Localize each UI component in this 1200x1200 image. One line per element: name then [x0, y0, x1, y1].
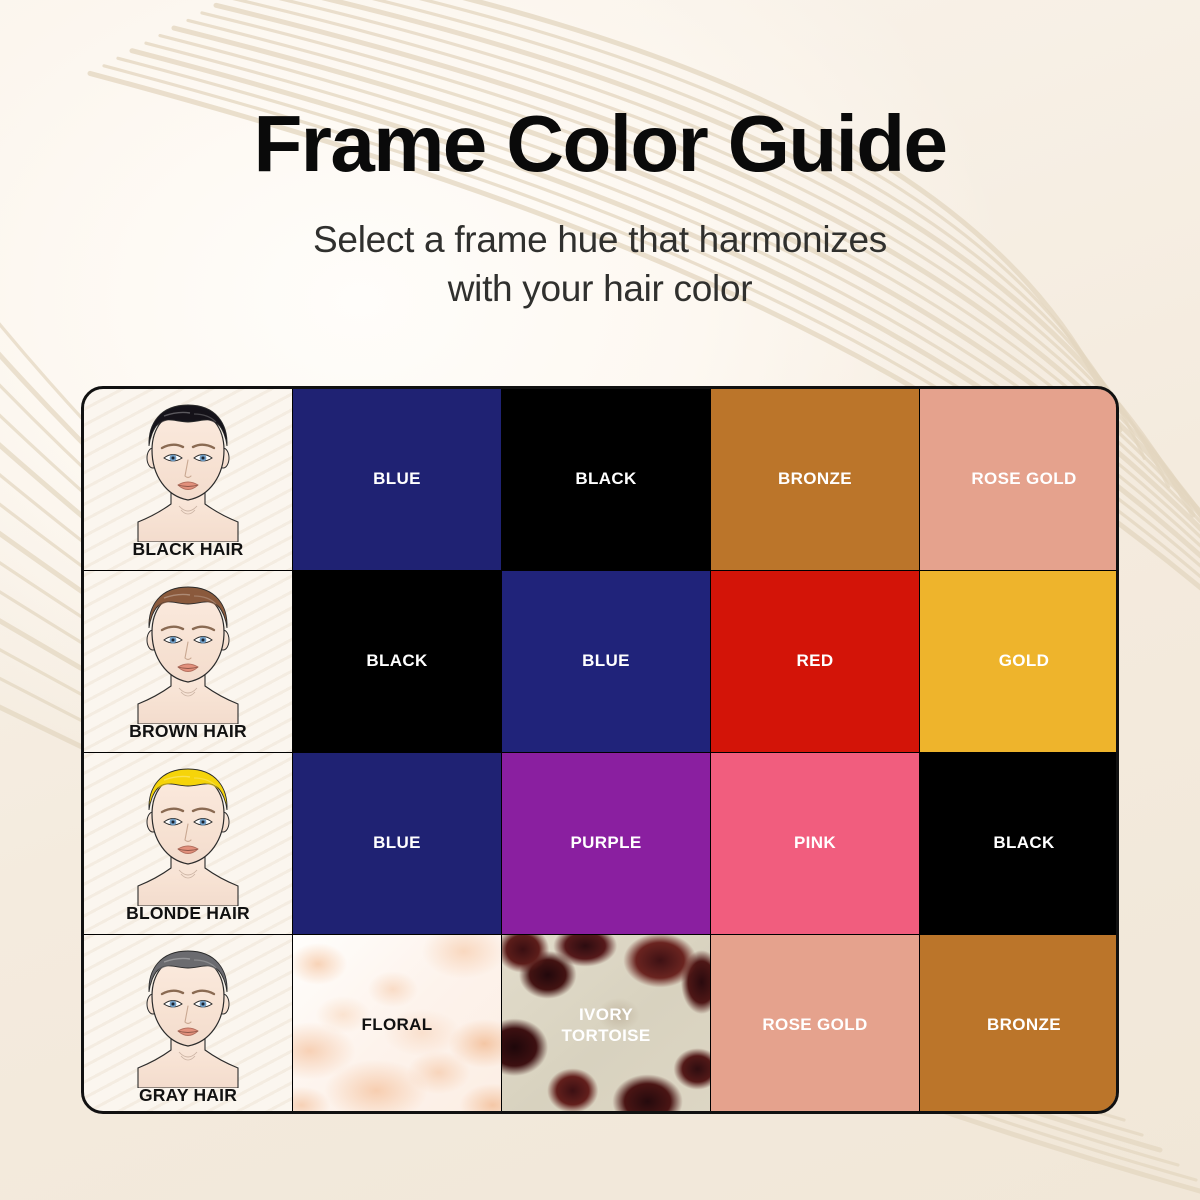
frame-color-swatch[interactable]: BLACK [920, 753, 1119, 934]
hair-type-cell: GRAY HAIR [84, 935, 292, 1114]
swatch-label: BLACK [993, 833, 1054, 854]
swatch-label: FLORAL [361, 1015, 432, 1036]
swatch-label: BRONZE [778, 469, 852, 490]
frame-color-swatch[interactable]: GOLD [920, 571, 1119, 752]
swatch-label: BLACK [575, 469, 636, 490]
frame-color-swatch[interactable]: PURPLE [502, 753, 710, 934]
frame-color-swatch[interactable]: PINK [711, 753, 919, 934]
frame-color-swatch[interactable]: BLUE [293, 389, 501, 570]
hair-type-cell: BLONDE HAIR [84, 753, 292, 934]
face-illustration [124, 396, 252, 542]
frame-color-swatch[interactable]: ROSE GOLD [711, 935, 919, 1114]
hair-type-label: BROWN HAIR [129, 721, 247, 742]
frame-color-swatch[interactable]: BLACK [293, 571, 501, 752]
header: Frame Color Guide Select a frame hue tha… [0, 0, 1200, 314]
subtitle-line-2: with your hair color [0, 265, 1200, 314]
hair-type-cell: BROWN HAIR [84, 571, 292, 752]
swatch-label: BLUE [582, 651, 630, 672]
poster-canvas: Frame Color Guide Select a frame hue tha… [0, 0, 1200, 1200]
frame-color-swatch[interactable]: FLORAL [293, 935, 501, 1114]
subtitle-line-1: Select a frame hue that harmonizes [0, 216, 1200, 265]
swatch-label: ROSE GOLD [762, 1015, 867, 1036]
frame-color-grid: BLACK HAIRBLUEBLACKBRONZEROSE GOLD BROWN… [84, 389, 1116, 1111]
swatch-label: GOLD [999, 651, 1050, 672]
frame-color-swatch[interactable]: RED [711, 571, 919, 752]
face-illustration [124, 760, 252, 906]
frame-color-swatch[interactable]: ROSE GOLD [920, 389, 1119, 570]
hair-type-label: BLONDE HAIR [126, 903, 250, 924]
swatch-label: ROSE GOLD [971, 469, 1076, 490]
face-illustration [124, 942, 252, 1088]
hair-type-label: GRAY HAIR [139, 1085, 237, 1106]
swatch-label: BLUE [373, 469, 421, 490]
hair-type-label: BLACK HAIR [133, 539, 244, 560]
hair-type-cell: BLACK HAIR [84, 389, 292, 570]
swatch-label: BRONZE [987, 1015, 1061, 1036]
swatch-label: IVORY TORTOISE [561, 1005, 650, 1046]
frame-color-swatch[interactable]: BRONZE [920, 935, 1119, 1114]
face-illustration [124, 578, 252, 724]
frame-color-swatch[interactable]: BRONZE [711, 389, 919, 570]
swatch-label: RED [797, 651, 834, 672]
frame-color-grid-panel: BLACK HAIRBLUEBLACKBRONZEROSE GOLD BROWN… [81, 386, 1119, 1114]
frame-color-swatch[interactable]: BLUE [293, 753, 501, 934]
page-title: Frame Color Guide [0, 104, 1200, 184]
frame-color-swatch[interactable]: BLUE [502, 571, 710, 752]
swatch-label: BLUE [373, 833, 421, 854]
swatch-label: BLACK [366, 651, 427, 672]
swatch-label: PINK [794, 833, 836, 854]
frame-color-swatch[interactable]: IVORY TORTOISE [502, 935, 710, 1114]
swatch-label: PURPLE [570, 833, 641, 854]
page-subtitle: Select a frame hue that harmonizes with … [0, 216, 1200, 314]
frame-color-swatch[interactable]: BLACK [502, 389, 710, 570]
